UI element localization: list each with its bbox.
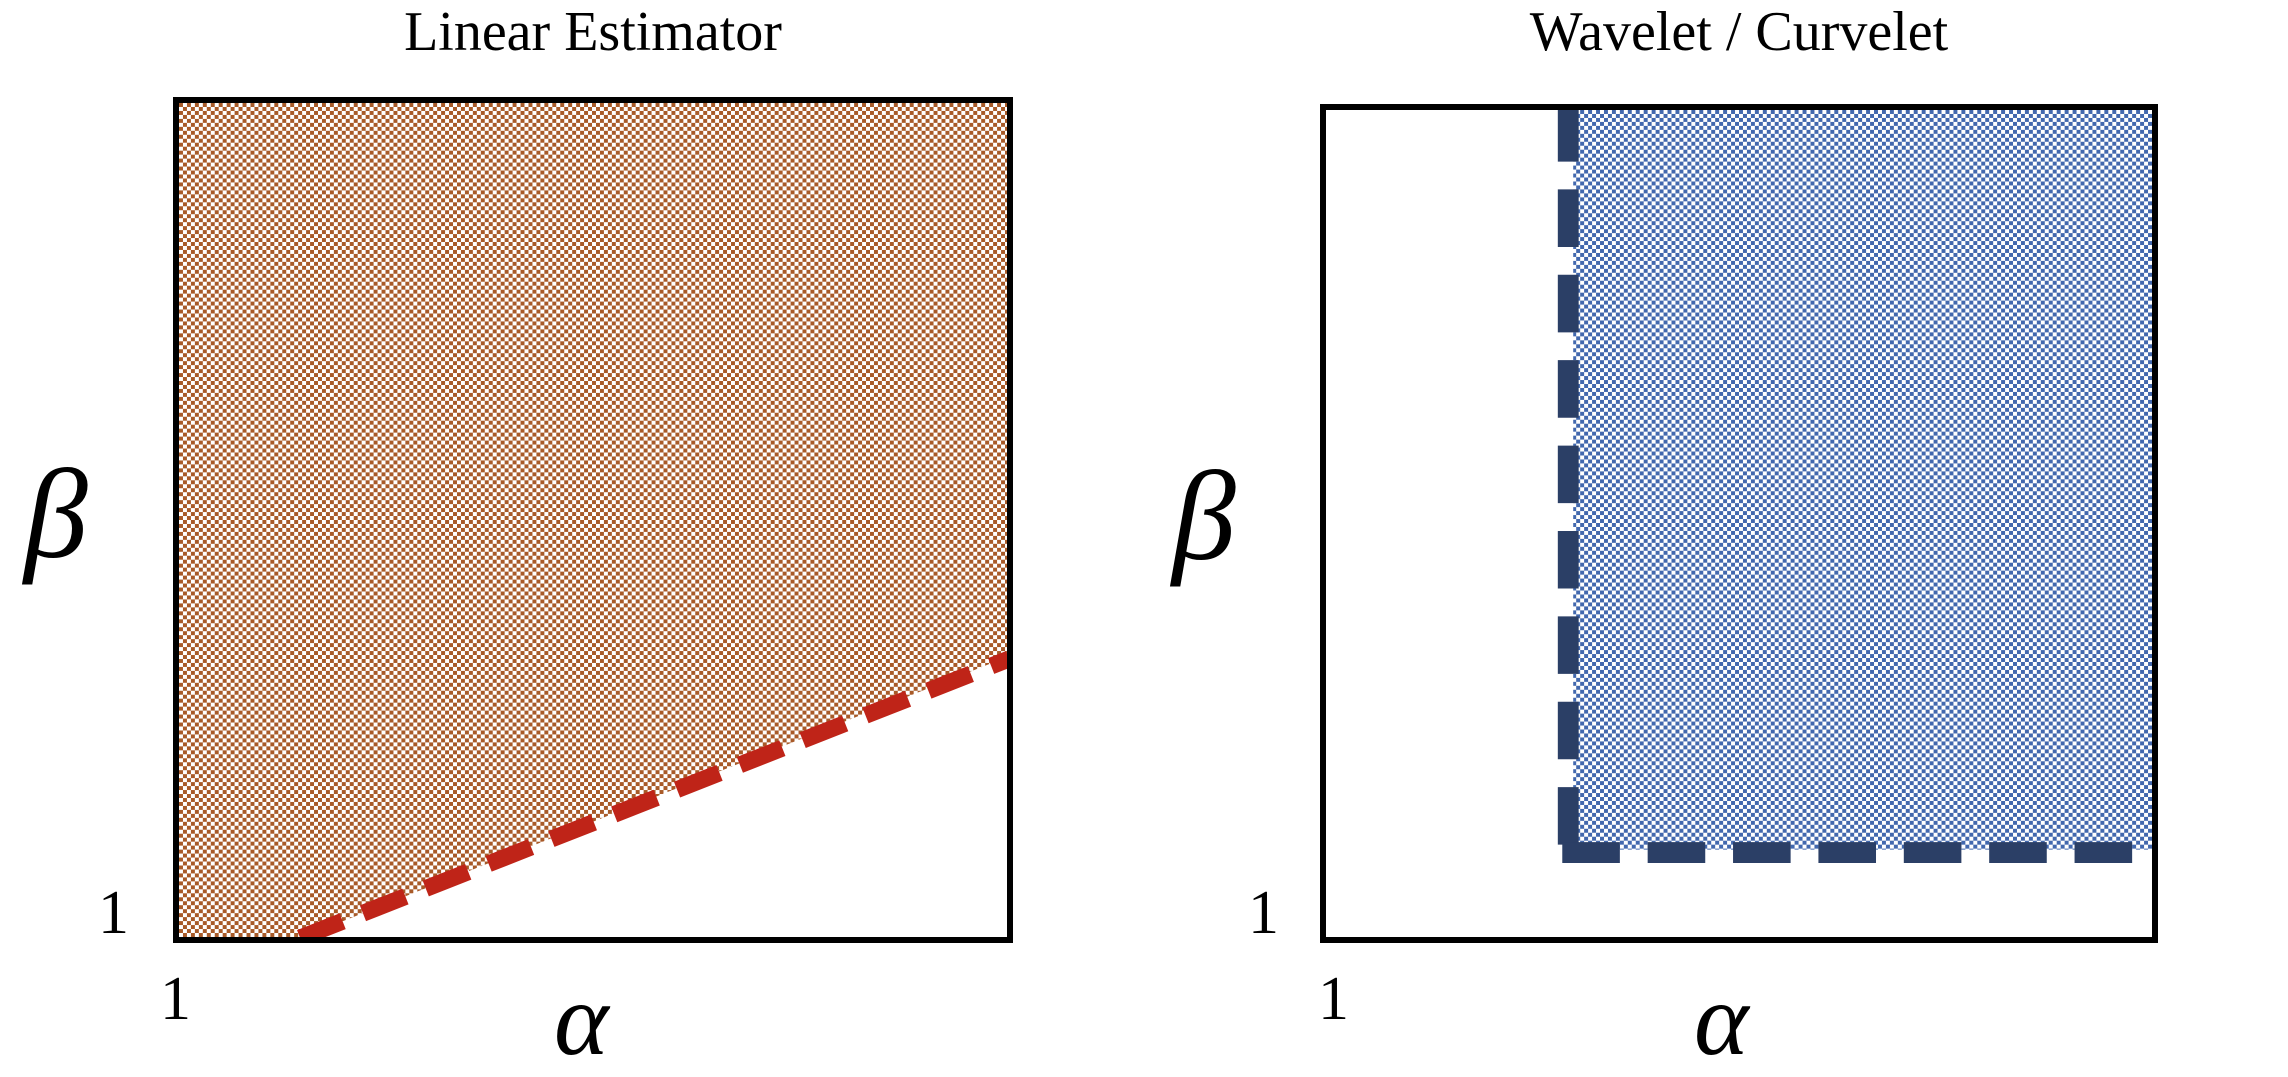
blue-shaded-region: [1573, 110, 2152, 850]
x-tick-label-linear-estimator: 1: [160, 968, 191, 1030]
y-axis-label-beta-linear-estimator: β: [24, 450, 88, 578]
y-tick-label-linear-estimator: 1: [98, 882, 129, 944]
x-axis-label-alpha-linear-estimator: α: [554, 968, 609, 1072]
panel-title-linear-estimator: Linear Estimator: [173, 4, 1013, 60]
panel-wavelet-curvelet: Wavelet / Curvelet 1: [1140, 0, 2288, 1072]
panel-title-wavelet-curvelet: Wavelet / Curvelet: [1320, 4, 2158, 60]
x-tick-label-wavelet-curvelet: 1: [1318, 968, 1349, 1030]
linear-estimator-region: [179, 103, 1007, 937]
x-axis-label-alpha-wavelet-curvelet: α: [1694, 968, 1749, 1072]
plot-area-linear-estimator: [173, 97, 1013, 943]
y-axis-label-beta-wavelet-curvelet: β: [1172, 452, 1236, 580]
plot-area-wavelet-curvelet: [1320, 104, 2158, 943]
y-tick-label-wavelet-curvelet: 1: [1248, 882, 1279, 944]
panel-linear-estimator: Linear Estimator 1 1 β: [0, 0, 1100, 1072]
phase-diagram-figure: Linear Estimator 1 1 β: [0, 0, 2288, 1072]
wavelet-curvelet-region: [1326, 110, 2152, 937]
brown-shaded-region: [179, 103, 1007, 937]
